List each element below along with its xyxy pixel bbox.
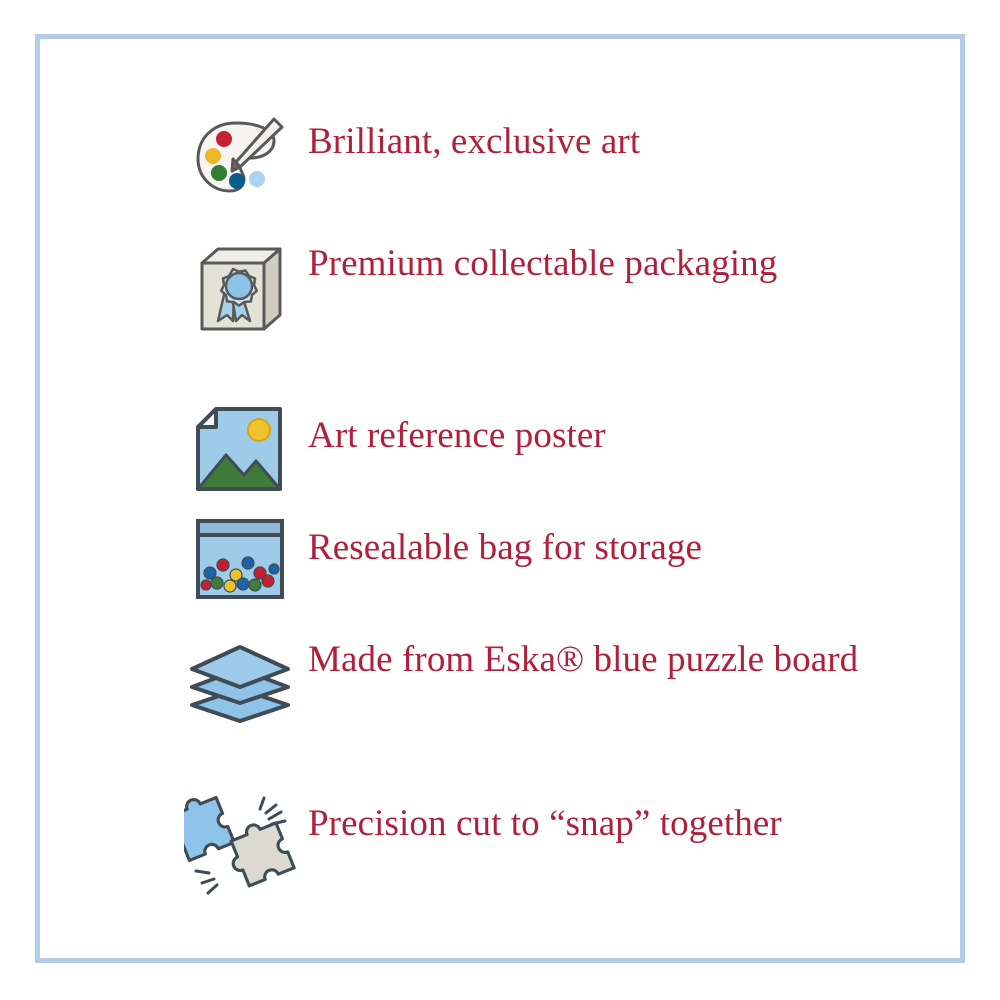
- stacked-layers-icon: [180, 627, 300, 729]
- feature-list: Brilliant, exclusive art: [180, 97, 920, 925]
- award-box-packaging-icon: [180, 237, 300, 341]
- list-item-label: Precision cut to “snap” together: [300, 785, 920, 847]
- list-item: Brilliant, exclusive art: [180, 97, 920, 237]
- paint-palette-icon: [180, 97, 300, 209]
- list-item: Art reference poster: [180, 395, 920, 509]
- resealable-bag-icon: [180, 509, 300, 603]
- list-item-label: Brilliant, exclusive art: [300, 97, 920, 165]
- list-item-label: Art reference poster: [300, 395, 920, 459]
- picture-poster-icon: [180, 395, 300, 495]
- list-item-label: Made from Eska® blue puzzle board: [300, 627, 920, 683]
- list-item: Made from Eska® blue puzzle board: [180, 627, 920, 785]
- product-feature-card: Brilliant, exclusive art: [0, 0, 1000, 1000]
- list-item: Premium collectable packaging: [180, 237, 920, 395]
- list-item-label: Resealable bag for storage: [300, 509, 920, 571]
- list-item: Precision cut to “snap” together: [180, 785, 920, 925]
- puzzle-pieces-snap-icon: [180, 785, 300, 903]
- list-item: Resealable bag for storage: [180, 509, 920, 627]
- card-frame: Brilliant, exclusive art: [35, 34, 965, 963]
- list-item-label: Premium collectable packaging: [300, 237, 920, 287]
